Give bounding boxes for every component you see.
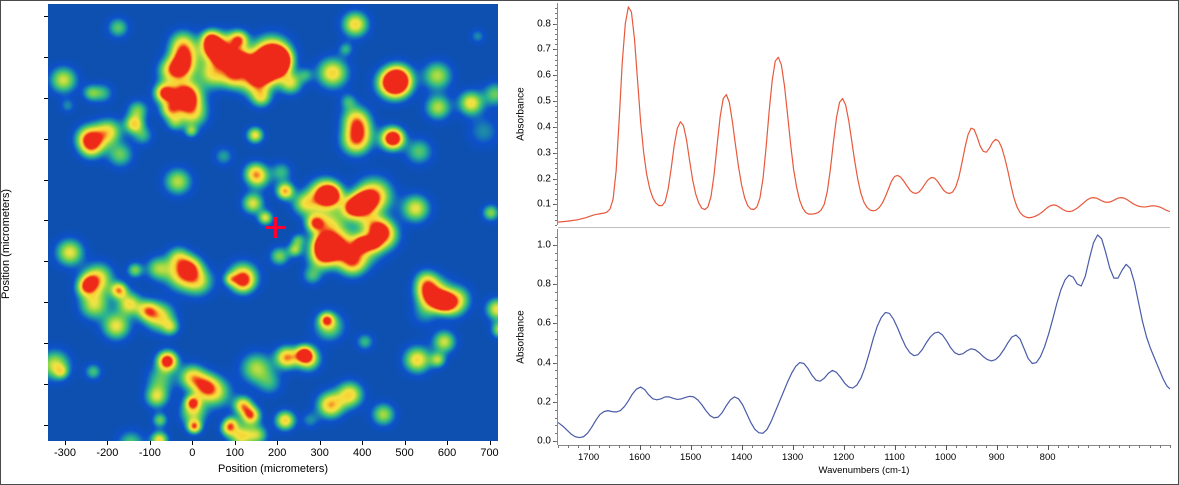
- x-tick-label: 1100: [884, 452, 904, 463]
- x-tick-label: 1200: [833, 452, 854, 463]
- x-tick-mark: [742, 445, 743, 450]
- x-tick-label: 800: [1040, 452, 1056, 463]
- y-tick-label: 0.5: [519, 96, 551, 107]
- x-tick-label: 1400: [731, 452, 752, 463]
- y-tick-label: 0.2: [519, 173, 551, 184]
- x-minor-tick: [711, 445, 712, 448]
- y-tick-label: 0.2: [519, 396, 551, 407]
- x-minor-tick: [986, 445, 987, 448]
- x-minor-tick: [762, 445, 763, 448]
- x-minor-tick: [925, 445, 926, 448]
- x-minor-tick: [670, 445, 671, 448]
- x-tick-label: 1500: [680, 452, 701, 463]
- x-tick-label: 1300: [782, 452, 803, 463]
- y-tick-label: 0.4: [519, 357, 551, 368]
- x-minor-tick: [803, 445, 804, 448]
- x-minor-tick: [813, 445, 814, 448]
- x-tick-mark: [640, 445, 641, 450]
- x-minor-tick: [752, 445, 753, 448]
- x-minor-tick: [976, 445, 977, 448]
- heatmap-x-tick-mark: [65, 441, 66, 445]
- x-tick-label: 1700: [578, 452, 599, 463]
- top-spectrum-block: Absorbance 0.10.20.30.40.50.60.70.8: [501, 1, 1179, 227]
- heatmap-x-tick-mark: [192, 441, 193, 445]
- x-minor-tick: [578, 445, 579, 448]
- heatmap-x-axis-label: Position (micrometers): [48, 463, 498, 475]
- x-minor-tick: [935, 445, 936, 448]
- y-tick-label: 0.4: [519, 121, 551, 132]
- y-tick-label: 0.6: [519, 70, 551, 81]
- x-tick-mark: [1048, 445, 1049, 450]
- x-minor-tick: [1099, 445, 1100, 448]
- y-tick-label: 0.8: [519, 278, 551, 289]
- chemical-image-panel: Position (micrometers) -1000100200300400…: [1, 1, 501, 485]
- x-minor-tick: [956, 445, 957, 448]
- heatmap-x-tick-label: -300: [54, 447, 76, 459]
- x-minor-tick: [772, 445, 773, 448]
- x-minor-tick: [1150, 445, 1151, 448]
- x-tick-label: 1000: [935, 452, 956, 463]
- x-minor-tick: [629, 445, 630, 448]
- heatmap-y-axis-label: Position (micrometers): [0, 144, 12, 344]
- x-tick-mark: [946, 445, 947, 450]
- x-minor-tick: [1109, 445, 1110, 448]
- heatmap-x-tick-mark: [107, 441, 108, 445]
- x-minor-tick: [1129, 445, 1130, 448]
- x-minor-tick: [1088, 445, 1089, 448]
- y-minor-tick: [555, 225, 557, 226]
- heatmap-x-tick-label: 300: [311, 447, 329, 459]
- x-minor-tick: [915, 445, 916, 448]
- heatmap-x-tick-mark: [362, 441, 363, 445]
- y-tick-label: 0.6: [519, 318, 551, 329]
- y-tick-label: 0.0: [519, 436, 551, 447]
- bottom-spectrum-curve: [558, 229, 1170, 445]
- heatmap-x-tick-label: -100: [139, 447, 161, 459]
- x-minor-tick: [599, 445, 600, 448]
- heatmap-x-tick-mark: [490, 441, 491, 445]
- x-tick-mark: [895, 445, 896, 450]
- x-tick-label: 900: [989, 452, 1005, 463]
- x-tick-mark: [997, 445, 998, 450]
- bottom-spectrum-block: Absorbance 0.00.20.40.60.81.0 1700160015…: [501, 227, 1179, 485]
- x-minor-tick: [660, 445, 661, 448]
- x-minor-tick: [721, 445, 722, 448]
- x-minor-tick: [874, 445, 875, 448]
- x-tick-mark: [844, 445, 845, 450]
- x-minor-tick: [782, 445, 783, 448]
- heatmap-x-tick-label: 400: [353, 447, 371, 459]
- heatmap-x-tick-label: 0: [189, 447, 195, 459]
- heatmap-x-tick-label: 200: [268, 447, 286, 459]
- y-tick-label: 0.3: [519, 147, 551, 158]
- x-minor-tick: [619, 445, 620, 448]
- x-minor-tick: [864, 445, 865, 448]
- x-minor-tick: [884, 445, 885, 448]
- figure-container: Position (micrometers) -1000100200300400…: [0, 0, 1179, 485]
- heatmap-x-tick-mark: [405, 441, 406, 445]
- x-minor-tick: [1058, 445, 1059, 448]
- x-minor-tick: [650, 445, 651, 448]
- heatmap-x-tick-label: 700: [480, 447, 498, 459]
- heatmap-x-tick-mark: [235, 441, 236, 445]
- x-minor-tick: [558, 445, 559, 448]
- heatmap-x-tick-label: -200: [96, 447, 118, 459]
- y-axis-line: [557, 3, 558, 225]
- heatmap-x-tick-mark: [320, 441, 321, 445]
- x-minor-tick: [1027, 445, 1028, 448]
- y-tick-label: 0.1: [519, 199, 551, 210]
- heatmap-plot-area[interactable]: [48, 4, 498, 441]
- x-minor-tick: [905, 445, 906, 448]
- heatmap-x-tick-label: 500: [395, 447, 413, 459]
- x-minor-tick: [680, 445, 681, 448]
- x-tick-label: 1600: [629, 452, 650, 463]
- x-minor-tick: [1017, 445, 1018, 448]
- x-minor-tick: [1007, 445, 1008, 448]
- y-axis-line: [557, 229, 558, 445]
- x-minor-tick: [1139, 445, 1140, 448]
- heatmap-x-tick-label: 600: [438, 447, 456, 459]
- x-minor-tick: [833, 445, 834, 448]
- top-spectrum-curve: [558, 3, 1170, 225]
- heatmap-x-tick-mark: [150, 441, 151, 445]
- x-minor-tick: [1037, 445, 1038, 448]
- x-minor-tick: [966, 445, 967, 448]
- x-minor-tick: [731, 445, 732, 448]
- x-minor-tick: [568, 445, 569, 448]
- x-minor-tick: [823, 445, 824, 448]
- x-tick-mark: [793, 445, 794, 450]
- heatmap-x-tick-mark: [277, 441, 278, 445]
- x-minor-tick: [1170, 445, 1171, 448]
- x-minor-tick: [854, 445, 855, 448]
- y-tick-label: 0.7: [519, 44, 551, 55]
- bottom-spectrum-y-axis-label: Absorbance: [516, 289, 527, 385]
- wavenumber-axis-label: Wavenumbers (cm-1): [558, 465, 1170, 476]
- y-tick-label: 0.8: [519, 18, 551, 29]
- x-minor-tick: [701, 445, 702, 448]
- heatmap-x-tick-mark: [447, 441, 448, 445]
- bottom-spectrum-plot-area[interactable]: [558, 229, 1170, 445]
- x-minor-tick: [609, 445, 610, 448]
- x-minor-tick: [1160, 445, 1161, 448]
- x-minor-tick: [1119, 445, 1120, 448]
- x-tick-mark: [691, 445, 692, 450]
- top-spectrum-plot-area[interactable]: [558, 3, 1170, 225]
- spectra-panel: Absorbance 0.10.20.30.40.50.60.70.8 Abso…: [501, 1, 1179, 485]
- heatmap-x-tick-label: 100: [226, 447, 244, 459]
- heatmap-image[interactable]: [48, 4, 498, 441]
- x-minor-tick: [1068, 445, 1069, 448]
- x-tick-mark: [589, 445, 590, 450]
- x-minor-tick: [1078, 445, 1079, 448]
- y-tick-label: 1.0: [519, 239, 551, 250]
